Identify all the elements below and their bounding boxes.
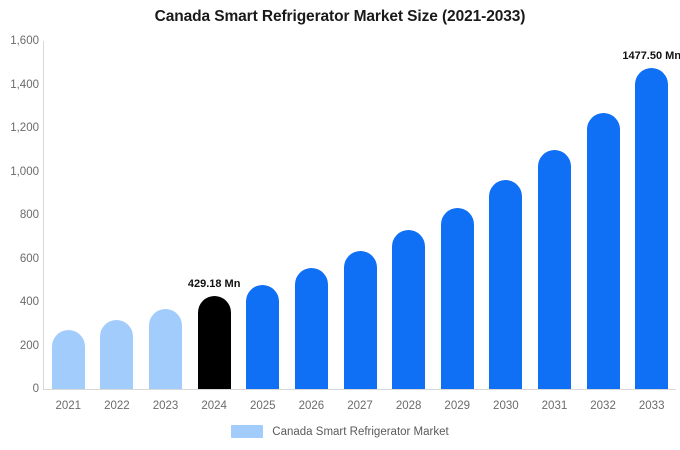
bar-2022[interactable]	[100, 320, 133, 389]
y-axis-tick-label: 400	[1, 296, 39, 308]
y-axis-tick-label: 800	[1, 209, 39, 221]
bar-2024[interactable]	[198, 296, 231, 389]
x-axis-tick-label: 2028	[396, 400, 422, 412]
legend-label-canada-smart-refrigerator-market: Canada Smart Refrigerator Market	[272, 426, 448, 438]
y-axis-tick-label: 1,000	[1, 166, 39, 178]
bar-2030[interactable]	[489, 180, 522, 389]
x-axis-tick-label: 2022	[104, 400, 130, 412]
x-axis-tick-label: 2024	[201, 400, 227, 412]
x-axis-line	[43, 389, 676, 390]
bar-value-label-2033: 1477.50 Mn	[622, 50, 680, 62]
bar-2027[interactable]	[344, 251, 377, 389]
plot-area	[44, 41, 676, 389]
chart-title: Canada Smart Refrigerator Market Size (2…	[0, 8, 680, 26]
x-axis-tick-label: 2027	[347, 400, 373, 412]
x-axis-tick-label: 2025	[250, 400, 276, 412]
x-axis-tick-label: 2032	[590, 400, 616, 412]
bar-2033[interactable]	[635, 68, 668, 389]
bar-2029[interactable]	[441, 208, 474, 389]
x-axis-tick-label: 2031	[542, 400, 568, 412]
x-axis-tick-label: 2030	[493, 400, 519, 412]
y-axis-tick-label: 600	[1, 253, 39, 265]
bar-value-label-2024: 429.18 Mn	[188, 278, 241, 290]
bar-chart: Canada Smart Refrigerator Market Size (2…	[0, 0, 680, 450]
bar-2028[interactable]	[392, 230, 425, 389]
bar-2031[interactable]	[538, 150, 571, 389]
x-axis-tick-label: 2026	[299, 400, 325, 412]
bar-2023[interactable]	[149, 309, 182, 389]
y-axis: 02004006008001,0001,2001,4001,600	[0, 0, 39, 450]
y-axis-tick-label: 1,400	[1, 79, 39, 91]
bar-2026[interactable]	[295, 268, 328, 389]
bar-2021[interactable]	[52, 330, 85, 389]
y-axis-tick-label: 0	[1, 383, 39, 395]
y-axis-tick-label: 200	[1, 340, 39, 352]
x-axis-tick-label: 2023	[153, 400, 179, 412]
bar-2025[interactable]	[246, 285, 279, 389]
bar-2032[interactable]	[587, 113, 620, 389]
legend-swatch-canada-smart-refrigerator-market	[231, 425, 263, 438]
y-axis-tick-label: 1,600	[1, 35, 39, 47]
y-axis-tick-label: 1,200	[1, 122, 39, 134]
x-axis-tick-label: 2033	[639, 400, 665, 412]
x-axis-tick-label: 2021	[56, 400, 82, 412]
chart-legend: Canada Smart Refrigerator Market	[0, 425, 680, 438]
x-axis-tick-label: 2029	[444, 400, 470, 412]
